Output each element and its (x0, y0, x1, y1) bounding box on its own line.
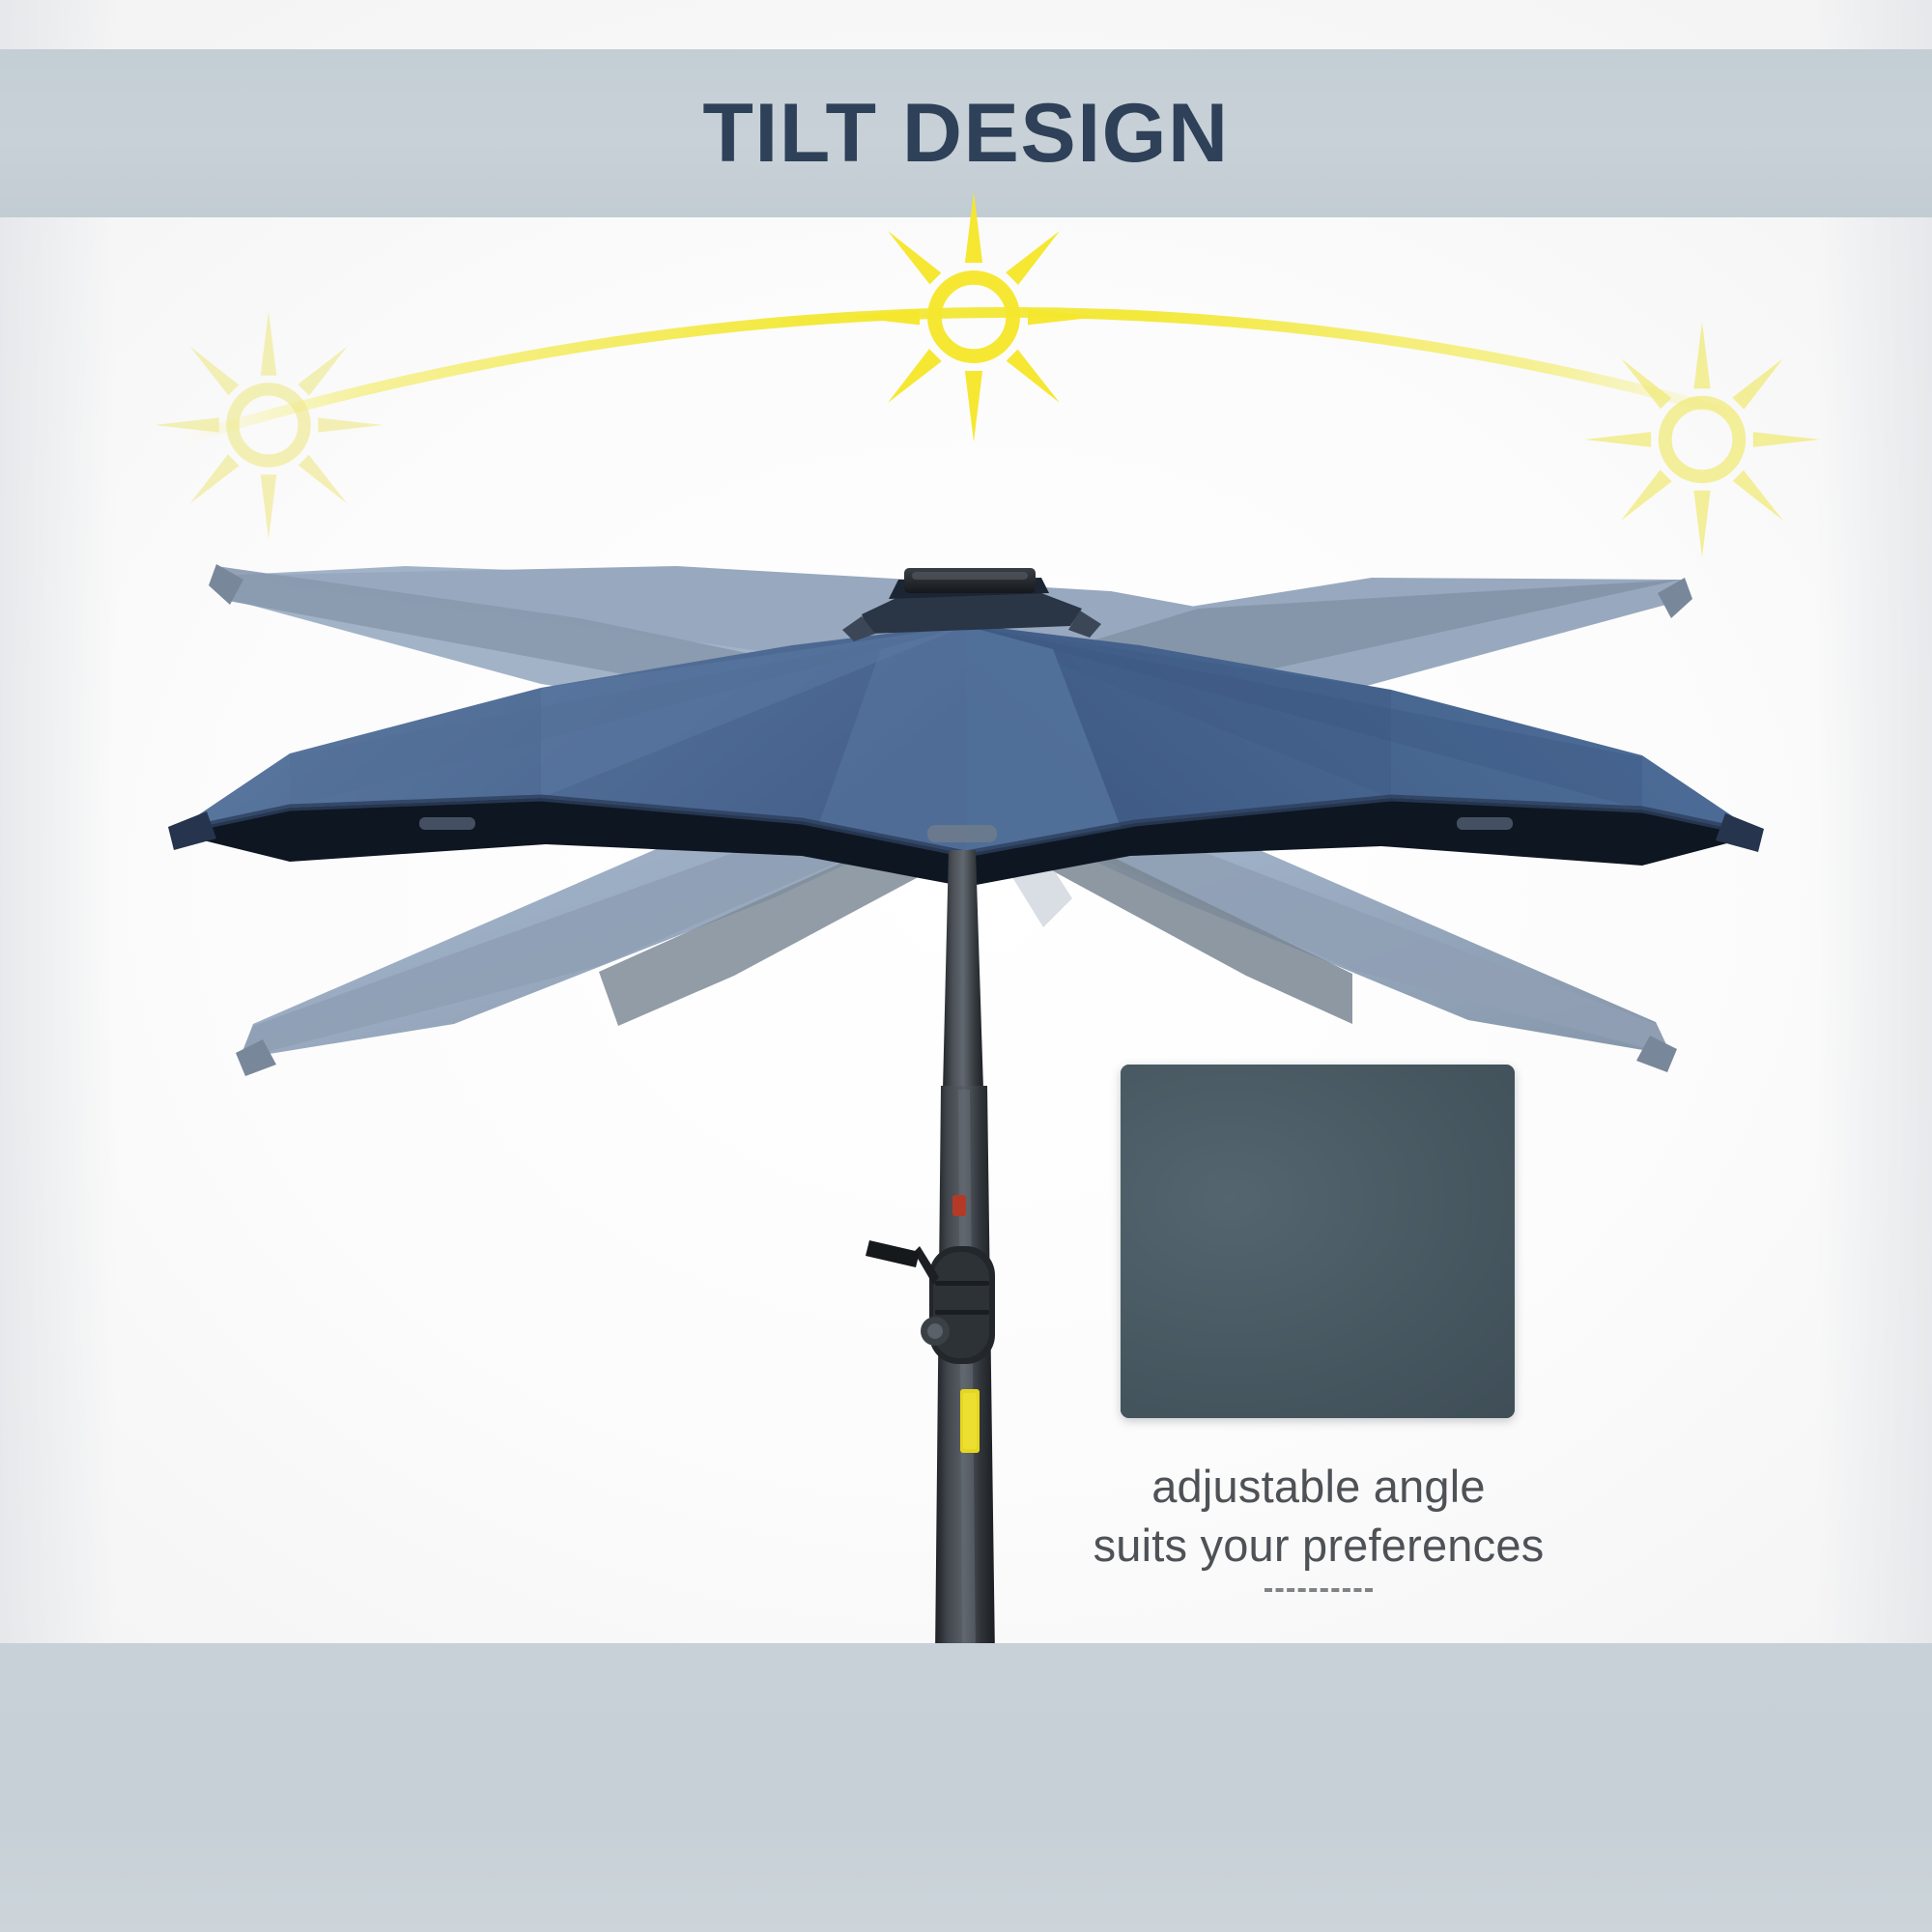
footer-band (0, 1643, 1932, 1932)
tilt-mechanism-inset (1121, 1065, 1515, 1418)
hub-clip (927, 825, 997, 842)
inset-background (1121, 1065, 1515, 1418)
umbrella-illustration (0, 0, 1932, 1932)
product-feature-image: TILT DESIGN (0, 0, 1932, 1932)
rib-clip (419, 817, 475, 830)
pole-indicator (952, 1195, 966, 1216)
caption-line-1: adjustable angle (1086, 1457, 1551, 1516)
caption-line-2: suits your preferences (1086, 1516, 1551, 1575)
inset-caption: adjustable angle suits your preferences (1086, 1457, 1551, 1592)
rib-clip (1457, 817, 1513, 830)
caption-divider (1264, 1588, 1373, 1592)
umbrella-pole (866, 850, 995, 1658)
crank-mechanism (866, 1240, 995, 1364)
